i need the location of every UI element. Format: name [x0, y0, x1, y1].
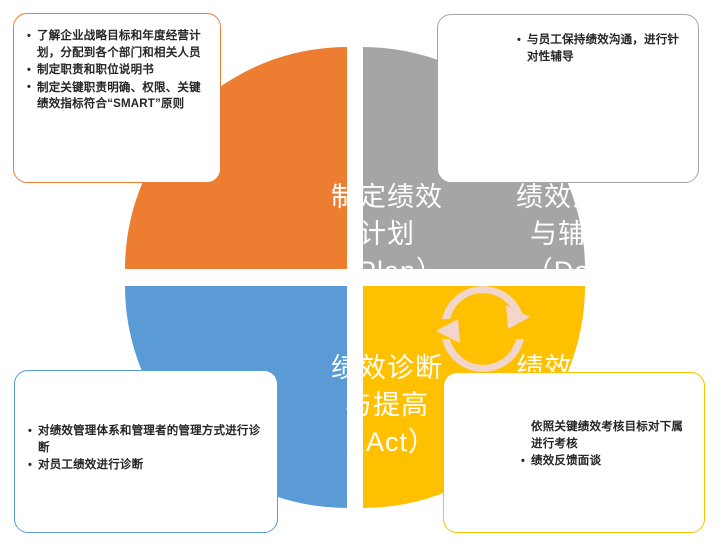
callout-act-body: 对绩效管理体系和管理者的管理方式进行诊断 对员工绩效进行诊断 — [27, 423, 265, 474]
quadrant-label-plan: 制定绩效 计划 （Plan） — [308, 179, 466, 290]
list-item: 制定关键职责明确、权限、关键绩效指标符合“SMART”原则 — [26, 80, 208, 113]
callout-act[interactable]: 对绩效管理体系和管理者的管理方式进行诊断 对员工绩效进行诊断 — [14, 370, 278, 533]
callout-plan-bullet-list: 了解企业战略目标和年度经营计划，分配到各个部门和相关人员 制定职责和职位说明书 … — [26, 28, 208, 113]
list-item: 制定职责和职位说明书 — [26, 62, 208, 79]
callout-do-body: 与员工保持绩效沟通，进行针对性辅导 — [450, 25, 686, 65]
quadrant-label-do: 绩效沟通 与辅导 （Do） — [493, 179, 651, 290]
callout-check[interactable]: 依照关键绩效考核目标对下属进行考核 绩效反馈面谈 — [443, 372, 705, 533]
list-item: 了解企业战略目标和年度经营计划，分配到各个部门和相关人员 — [26, 28, 208, 61]
list-item: 与员工保持绩效沟通，进行针对性辅导 — [516, 32, 686, 65]
callout-act-bullet-list: 对绩效管理体系和管理者的管理方式进行诊断 对员工绩效进行诊断 — [27, 423, 265, 474]
callout-plan[interactable]: 了解企业战略目标和年度经营计划，分配到各个部门和相关人员 制定职责和职位说明书 … — [13, 13, 221, 183]
callout-do[interactable]: 与员工保持绩效沟通，进行针对性辅导 — [437, 14, 699, 183]
callout-check-body: 依照关键绩效考核目标对下属进行考核 绩效反馈面谈 — [520, 419, 692, 470]
list-item: 依照关键绩效考核目标对下属进行考核 — [520, 419, 692, 452]
list-item: 绩效反馈面谈 — [520, 453, 692, 470]
list-item: 对员工绩效进行诊断 — [27, 457, 265, 474]
pdca-diagram-canvas: 制定绩效 计划 （Plan） 绩效沟通 与辅导 （Do） 绩效考核 与反馈 （C… — [0, 0, 718, 547]
callout-check-bullet-list: 依照关键绩效考核目标对下属进行考核 绩效反馈面谈 — [520, 419, 692, 470]
callout-plan-body: 了解企业战略目标和年度经营计划，分配到各个部门和相关人员 制定职责和职位说明书 … — [26, 24, 208, 113]
list-item: 对绩效管理体系和管理者的管理方式进行诊断 — [27, 423, 265, 456]
callout-do-bullet-list: 与员工保持绩效沟通，进行针对性辅导 — [516, 32, 686, 65]
